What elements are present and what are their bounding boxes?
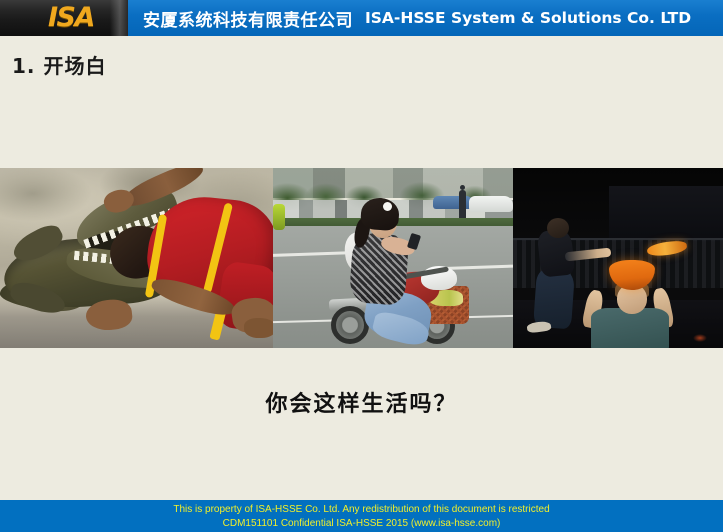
photo3-ground-glow bbox=[693, 334, 707, 342]
photo3-shooter-head bbox=[547, 218, 569, 238]
photo3-building-wall bbox=[609, 186, 723, 242]
slide-footer: This is property of ISA-HSSE Co. Ltd. An… bbox=[0, 500, 723, 532]
photo3-victim-torso bbox=[591, 308, 669, 348]
company-name-english: ISA-HSSE System & Solutions Co. LTD bbox=[365, 9, 691, 27]
slide-caption: 你会这样生活吗？ bbox=[0, 386, 723, 418]
header-title-bar: 安厦系统科技有限责任公司 ISA-HSSE System & Solutions… bbox=[128, 0, 723, 36]
photo2-blue-car bbox=[433, 196, 473, 209]
photo2-bike-rear-wheel bbox=[331, 306, 369, 344]
crocodile-show-photo bbox=[0, 168, 273, 348]
presentation-slide: ISA 安厦系统科技有限责任公司 ISA-HSSE System & Solut… bbox=[0, 0, 723, 532]
photo-strip bbox=[0, 168, 723, 348]
shooting-object-off-head-photo bbox=[513, 168, 723, 348]
footer-copyright-line: This is property of ISA-HSSE Co. Ltd. An… bbox=[0, 503, 723, 517]
slide-header: ISA 安厦系统科技有限责任公司 ISA-HSSE System & Solut… bbox=[0, 0, 723, 36]
photo2-roadside-person bbox=[273, 204, 285, 230]
slide-title: 1. 开场白 bbox=[12, 50, 106, 79]
company-name-chinese: 安厦系统科技有限责任公司 bbox=[143, 6, 353, 31]
footer-document-line: CDM151101 Confidential ISA-HSSE 2015 (ww… bbox=[0, 517, 723, 531]
photo3-shooter-legs bbox=[533, 269, 575, 330]
isa-logo-icon: ISA bbox=[48, 4, 94, 32]
photo2-white-car bbox=[469, 196, 513, 212]
photo2-hair-flower bbox=[383, 202, 392, 211]
photo1-performer-foot bbox=[244, 318, 273, 338]
photo2-pedestrian bbox=[459, 190, 466, 220]
logo-panel: ISA bbox=[0, 0, 128, 36]
woman-on-ebike-phone-photo bbox=[273, 168, 513, 348]
